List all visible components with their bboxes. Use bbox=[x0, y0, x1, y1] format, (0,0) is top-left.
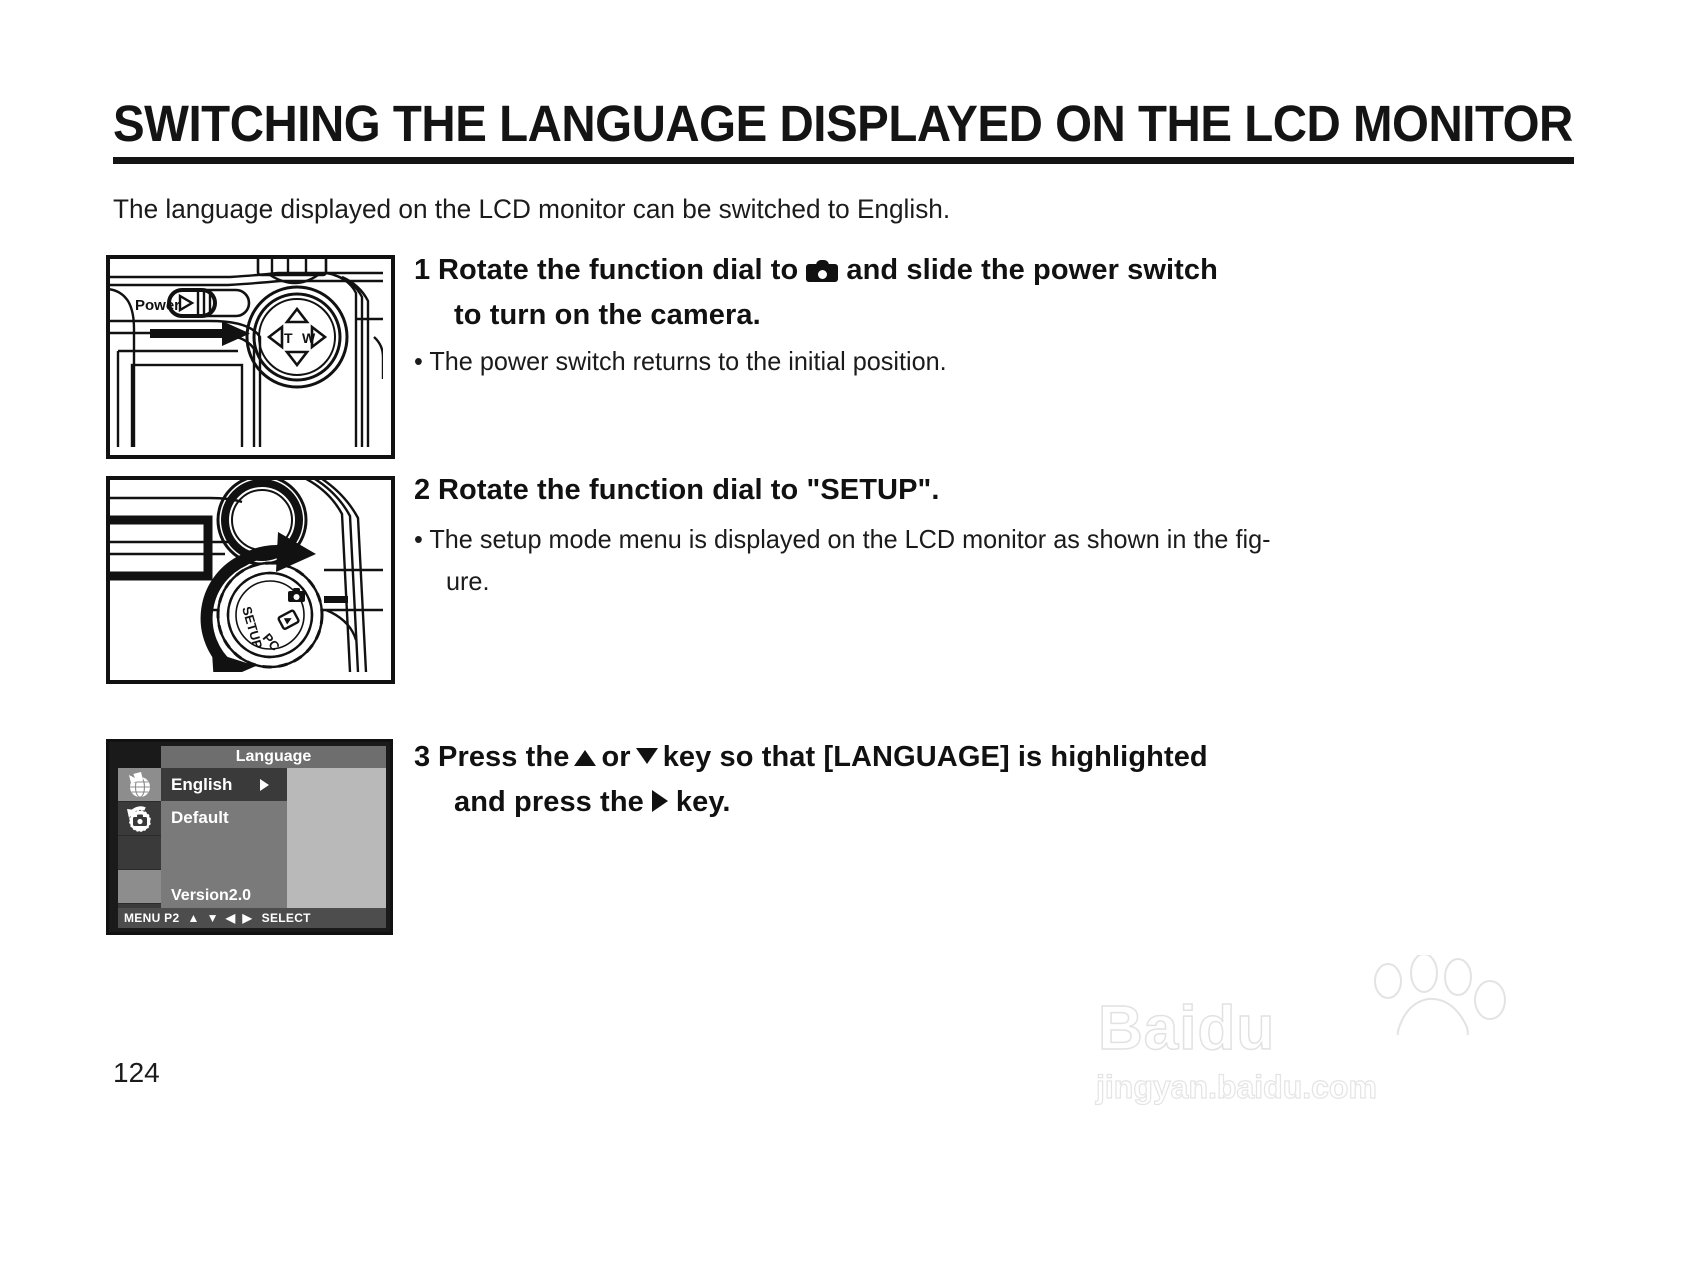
step-1-text-b: and slide the power switch bbox=[846, 254, 1218, 286]
four-way-pad: T W bbox=[247, 287, 347, 387]
camera-top-illustration: Power T W bbox=[110, 259, 383, 447]
lcd-status-bar: MENU P2▲ ▼ ◀ ▶SELECT bbox=[118, 908, 386, 928]
step-1-text-a: Rotate the function dial to bbox=[438, 254, 798, 286]
triangle-down-icon bbox=[636, 748, 658, 764]
power-switch-control bbox=[169, 290, 249, 316]
step-2: 2Rotate the function dial to "SETUP". bbox=[414, 468, 1444, 513]
watermark-url: jingyan.baidu.com bbox=[1096, 1069, 1377, 1106]
page-title-wrapper: SWITCHING THE LANGUAGE DISPLAYED ON THE … bbox=[113, 98, 1513, 149]
step-3-text-b: or bbox=[601, 741, 630, 773]
step-3-line2-a: and press the bbox=[454, 786, 644, 818]
mode-dial: SETUP PC bbox=[218, 563, 348, 667]
lcd-icon-blank-1 bbox=[118, 836, 161, 870]
lcd-screen: Language bbox=[118, 746, 386, 928]
lcd-version-label: Version2.0 bbox=[161, 886, 287, 908]
page-title: SWITCHING THE LANGUAGE DISPLAYED ON THE … bbox=[113, 98, 1415, 149]
lcd-menu-item-english-label: English bbox=[171, 775, 232, 794]
baidu-paw-icon bbox=[1340, 955, 1510, 1035]
lcd-status-keys: ▲ ▼ ◀ ▶ bbox=[187, 911, 253, 925]
lcd-icon-column bbox=[118, 768, 161, 908]
figure-lcd-setup-menu: Language bbox=[106, 739, 393, 935]
step-3: 3Press theorkey so that [LANGUAGE] is hi… bbox=[414, 735, 1444, 825]
step-2-text: Rotate the function dial to "SETUP". bbox=[438, 474, 940, 506]
chevron-right-icon bbox=[260, 779, 269, 791]
camera-mode-icon bbox=[806, 260, 838, 282]
power-label: Power bbox=[135, 297, 180, 314]
step-1-bullet: • The power switch returns to the initia… bbox=[414, 340, 1442, 382]
step-1-line2: to turn on the camera. bbox=[454, 293, 1444, 338]
step-2-bullet: • The setup mode menu is displayed on th… bbox=[414, 518, 1442, 602]
step-2-bullet-line2: ure. bbox=[446, 560, 1442, 602]
step-3-number: 3 bbox=[414, 735, 438, 780]
triangle-up-icon bbox=[574, 750, 596, 766]
step-3-text-c: key so that [LANGUAGE] is highlighted bbox=[663, 741, 1208, 773]
lcd-menu-item-english[interactable]: English bbox=[161, 768, 287, 801]
dial-index-mark bbox=[324, 596, 348, 603]
slide-direction-arrow bbox=[150, 321, 250, 346]
lcd-menu-item-default-label: Default bbox=[171, 808, 229, 827]
zoom-wide-label: W bbox=[302, 330, 316, 346]
manual-page: SWITCHING THE LANGUAGE DISPLAYED ON THE … bbox=[0, 0, 1700, 1280]
globe-language-icon[interactable] bbox=[118, 768, 161, 802]
step-3-line2-b: key. bbox=[676, 786, 731, 818]
step-3-text-a: Press the bbox=[438, 741, 569, 773]
step-2-number: 2 bbox=[414, 468, 438, 513]
lcd-status-select-label: SELECT bbox=[262, 911, 311, 925]
lcd-menu-item-default[interactable]: Default bbox=[161, 801, 287, 834]
lcd-right-panel bbox=[287, 768, 386, 908]
step-1-number: 1 bbox=[414, 248, 438, 293]
triangle-right-icon bbox=[652, 790, 668, 812]
function-dial-illustration: SETUP PC bbox=[110, 480, 383, 672]
watermark-brand: Baidu bbox=[1098, 993, 1275, 1064]
figure-function-dial: SETUP PC bbox=[106, 476, 395, 684]
step-1: 1Rotate the function dial toand slide th… bbox=[414, 248, 1444, 338]
title-underline-rule bbox=[113, 157, 1574, 164]
lcd-status-menu-label: MENU P2 bbox=[124, 911, 179, 925]
camera-reset-icon[interactable] bbox=[118, 802, 161, 836]
baidu-watermark: Baidu jingyan.baidu.com bbox=[1090, 965, 1560, 1125]
figure-camera-power-switch: Power T W bbox=[106, 255, 395, 459]
zoom-tele-label: T bbox=[284, 330, 293, 346]
lcd-icon-blank-2 bbox=[118, 870, 161, 904]
step-2-bullet-line1: • The setup mode menu is displayed on th… bbox=[414, 524, 1270, 554]
lcd-title-bar: Language bbox=[161, 746, 386, 768]
intro-paragraph: The language displayed on the LCD monito… bbox=[113, 192, 950, 227]
page-number: 124 bbox=[113, 1057, 160, 1089]
step-3-line2: and press thekey. bbox=[454, 780, 1444, 825]
